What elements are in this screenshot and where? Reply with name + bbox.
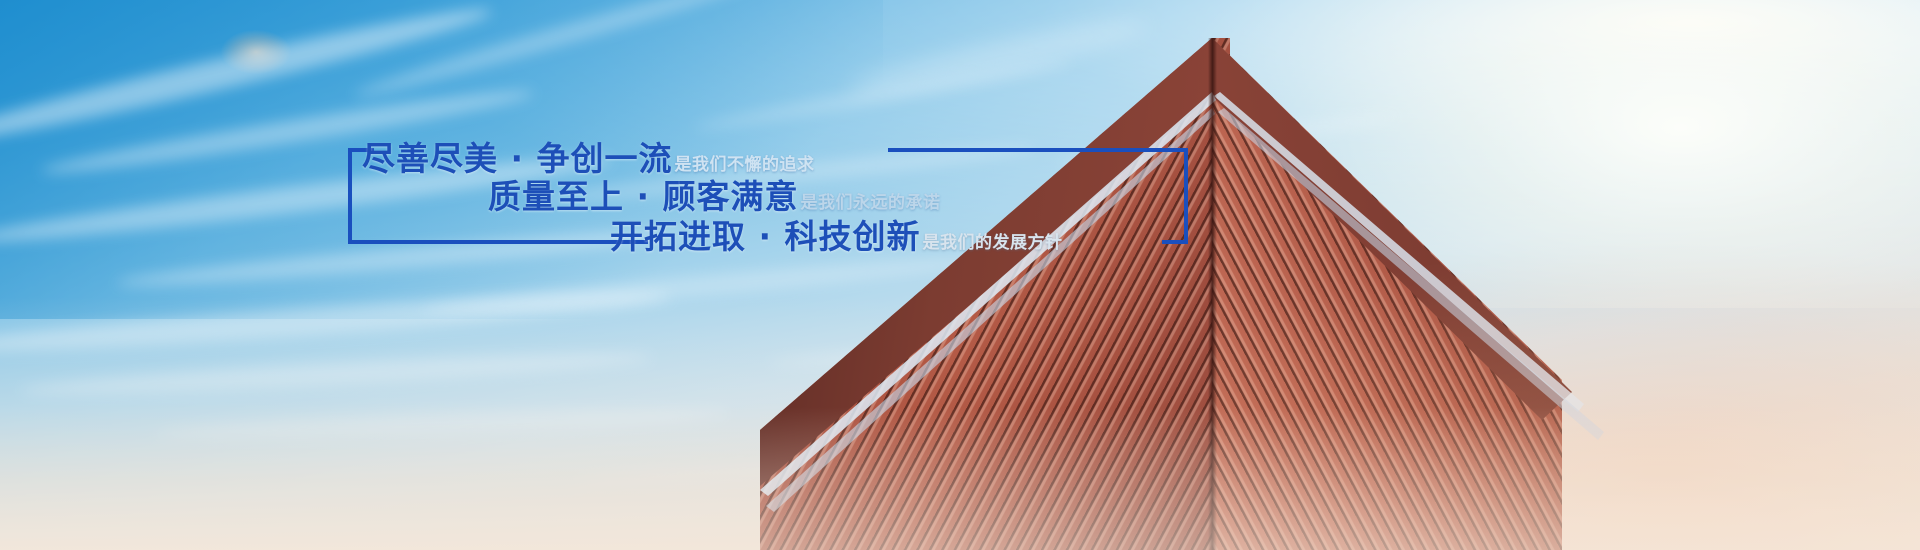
hero-banner: 尽善尽美 · 争创一流 是我们不懈的追求 质量至上 · 顾客满意 是我们永远的承… — [0, 0, 1920, 550]
slogan-subtext-3: 是我们的发展方针 — [923, 228, 1063, 253]
frame-bottom-left-rule — [348, 240, 648, 244]
slogan-line-3: 开拓进取 · 科技创新 是我们的发展方针 — [610, 210, 1063, 258]
building-corner-spine — [1208, 38, 1217, 550]
slogan-block: 尽善尽美 · 争创一流 是我们不懈的追求 质量至上 · 顾客满意 是我们永远的承… — [348, 140, 1188, 280]
frame-top-right-rule — [888, 148, 1188, 152]
frame-bottom-right-stub — [1162, 240, 1188, 244]
frame-left-edge — [348, 148, 352, 244]
frame-right-edge — [1184, 148, 1188, 244]
slogan-headline-3: 开拓进取 · 科技创新 — [610, 210, 921, 258]
building-right-facade — [1212, 0, 1732, 550]
louver-pattern — [1212, 0, 1732, 550]
